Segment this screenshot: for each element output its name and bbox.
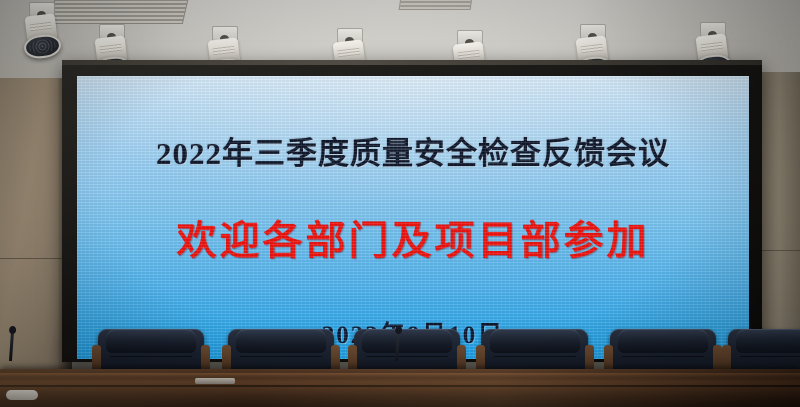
- chair-seam: [366, 356, 448, 357]
- slide-welcome-line: 欢迎各部门及项目部参加: [77, 208, 749, 266]
- desk-control-panel: [195, 378, 235, 384]
- chair-seam: [240, 356, 322, 357]
- desk-sheen: [0, 369, 800, 407]
- chair-seam: [740, 356, 800, 357]
- air-vent-secondary-icon: [399, 0, 474, 10]
- chair-headrest: [618, 329, 708, 353]
- chair-headrest: [236, 329, 326, 353]
- conference-desk: [0, 369, 800, 407]
- led-screen-frame-highlight: [62, 60, 762, 65]
- led-screen-display: 2022年三季度质量安全检查反馈会议 欢迎各部门及项目部参加 2022年8月10…: [77, 76, 749, 359]
- spotlight-1-icon: [22, 2, 60, 56]
- chair-headrest: [106, 329, 196, 353]
- air-vent-icon: [49, 0, 189, 24]
- chair-seam: [494, 356, 576, 357]
- chair-seam: [622, 356, 704, 357]
- desk-name-plate: [6, 390, 38, 400]
- slide-title: 2022年三季度质量安全检查反馈会议: [77, 128, 749, 173]
- chair-headrest: [736, 329, 800, 353]
- chair-headrest: [490, 329, 580, 353]
- chair-headrest: [362, 329, 452, 353]
- chair-seam: [110, 356, 192, 357]
- conference-room-scene: 2022年三季度质量安全检查反馈会议 欢迎各部门及项目部参加 2022年8月10…: [0, 0, 800, 407]
